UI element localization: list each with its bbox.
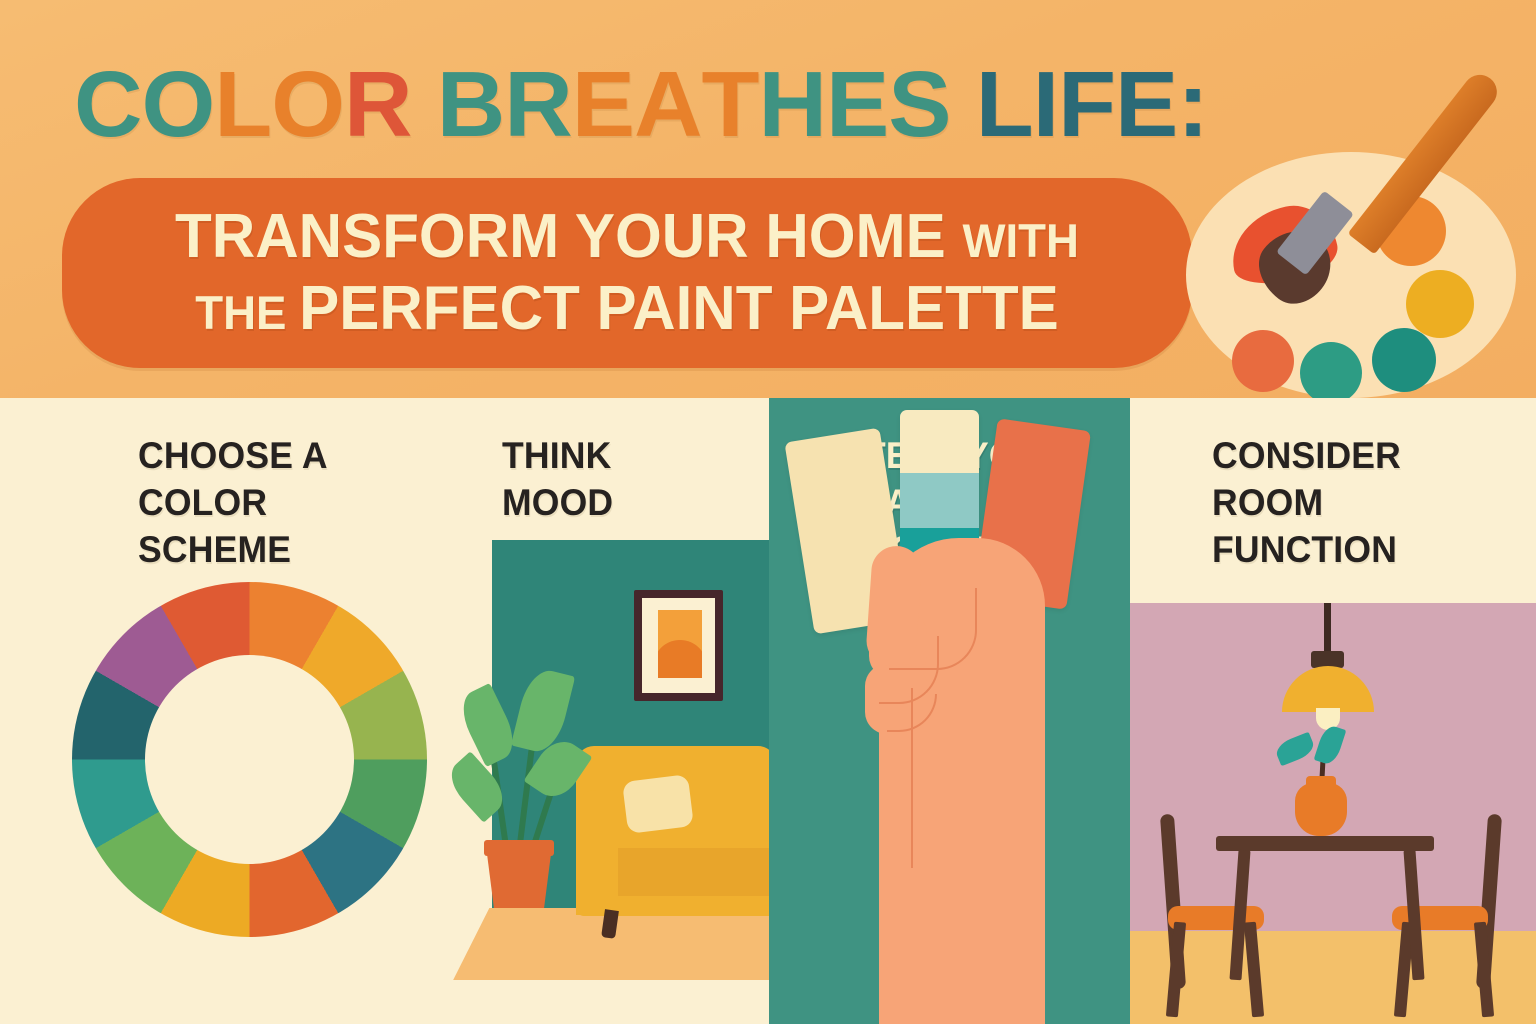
title-letter: H	[758, 44, 825, 164]
title-letter: C	[74, 44, 141, 164]
subtitle-line2-main: PERFECT PAINT PALETTE	[299, 274, 1059, 343]
wall-art-image	[658, 610, 702, 678]
wall-art-mat	[642, 598, 715, 693]
dining-table-top	[1216, 836, 1434, 851]
subtitle-line1-small: WITH	[962, 214, 1078, 267]
paint-dot-coral	[1232, 330, 1294, 392]
infographic-poster: COLOR BREATHES LIFE: TRANSFORM YOUR HOME…	[0, 0, 1536, 1024]
title-letter	[950, 44, 975, 164]
title-letter: A	[634, 44, 701, 164]
wall-art-frame	[634, 590, 723, 701]
title-letter: L	[976, 44, 1033, 164]
panel-choose-color-scheme: CHOOSE A COLOR SCHEME	[0, 398, 440, 1024]
sun-shape-icon	[658, 640, 702, 678]
sofa-seat	[610, 848, 769, 896]
subtitle-line-2: THE PERFECT PAINT PALETTE	[79, 272, 1175, 350]
subtitle-line-1: TRANSFORM YOUR HOME WITH	[79, 200, 1175, 278]
hand-crease	[911, 688, 943, 868]
paint-dot-yellow	[1406, 270, 1474, 338]
paint-dot-teal-right	[1372, 328, 1436, 392]
panel-2-heading: THINK MOOD	[502, 432, 613, 526]
sofa-arm	[576, 790, 618, 915]
title-letter: O	[141, 44, 214, 164]
color-wheel-center	[145, 655, 354, 864]
title-letter: E	[1115, 44, 1177, 164]
flower-vase	[1295, 783, 1347, 836]
title-letter: E	[826, 44, 888, 164]
paint-palette-icon	[1178, 130, 1536, 398]
title-letter: B	[437, 44, 504, 164]
panel-4-heading: CONSIDER ROOM FUNCTION	[1212, 432, 1401, 573]
panel-1-heading: CHOOSE A COLOR SCHEME	[138, 432, 428, 573]
title-letter: F	[1058, 44, 1115, 164]
subtitle-line2-small: THE	[195, 286, 299, 339]
title-letter: E	[572, 44, 634, 164]
swatch-tone-light-teal	[900, 473, 979, 529]
page-title: COLOR BREATHES LIFE:	[74, 44, 1318, 164]
paint-dot-teal-mid	[1300, 342, 1362, 398]
pendant-lamp-cord	[1324, 603, 1331, 655]
panel-think-mood: THINK MOOD	[440, 398, 769, 1024]
title-letter: R	[344, 44, 411, 164]
sofa-pillow	[622, 774, 694, 834]
subtitle-banner: TRANSFORM YOUR HOME WITH THE PERFECT PAI…	[62, 178, 1192, 368]
panel-consider-room-function: CONSIDER ROOM FUNCTION	[1130, 398, 1536, 1024]
title-letter: O	[271, 44, 344, 164]
panel-test-paint-colors: TEST YOUR PAINT COLORS	[769, 398, 1130, 1024]
title-letter: R	[504, 44, 571, 164]
subtitle-line1-main: TRANSFORM YOUR HOME	[175, 202, 962, 271]
title-letter: T	[702, 44, 759, 164]
title-letter: L	[214, 44, 271, 164]
title-letter	[411, 44, 436, 164]
plant-pot	[486, 846, 552, 908]
header-band: COLOR BREATHES LIFE: TRANSFORM YOUR HOME…	[0, 0, 1536, 398]
title-letter: S	[888, 44, 950, 164]
title-letter: I	[1033, 44, 1058, 164]
